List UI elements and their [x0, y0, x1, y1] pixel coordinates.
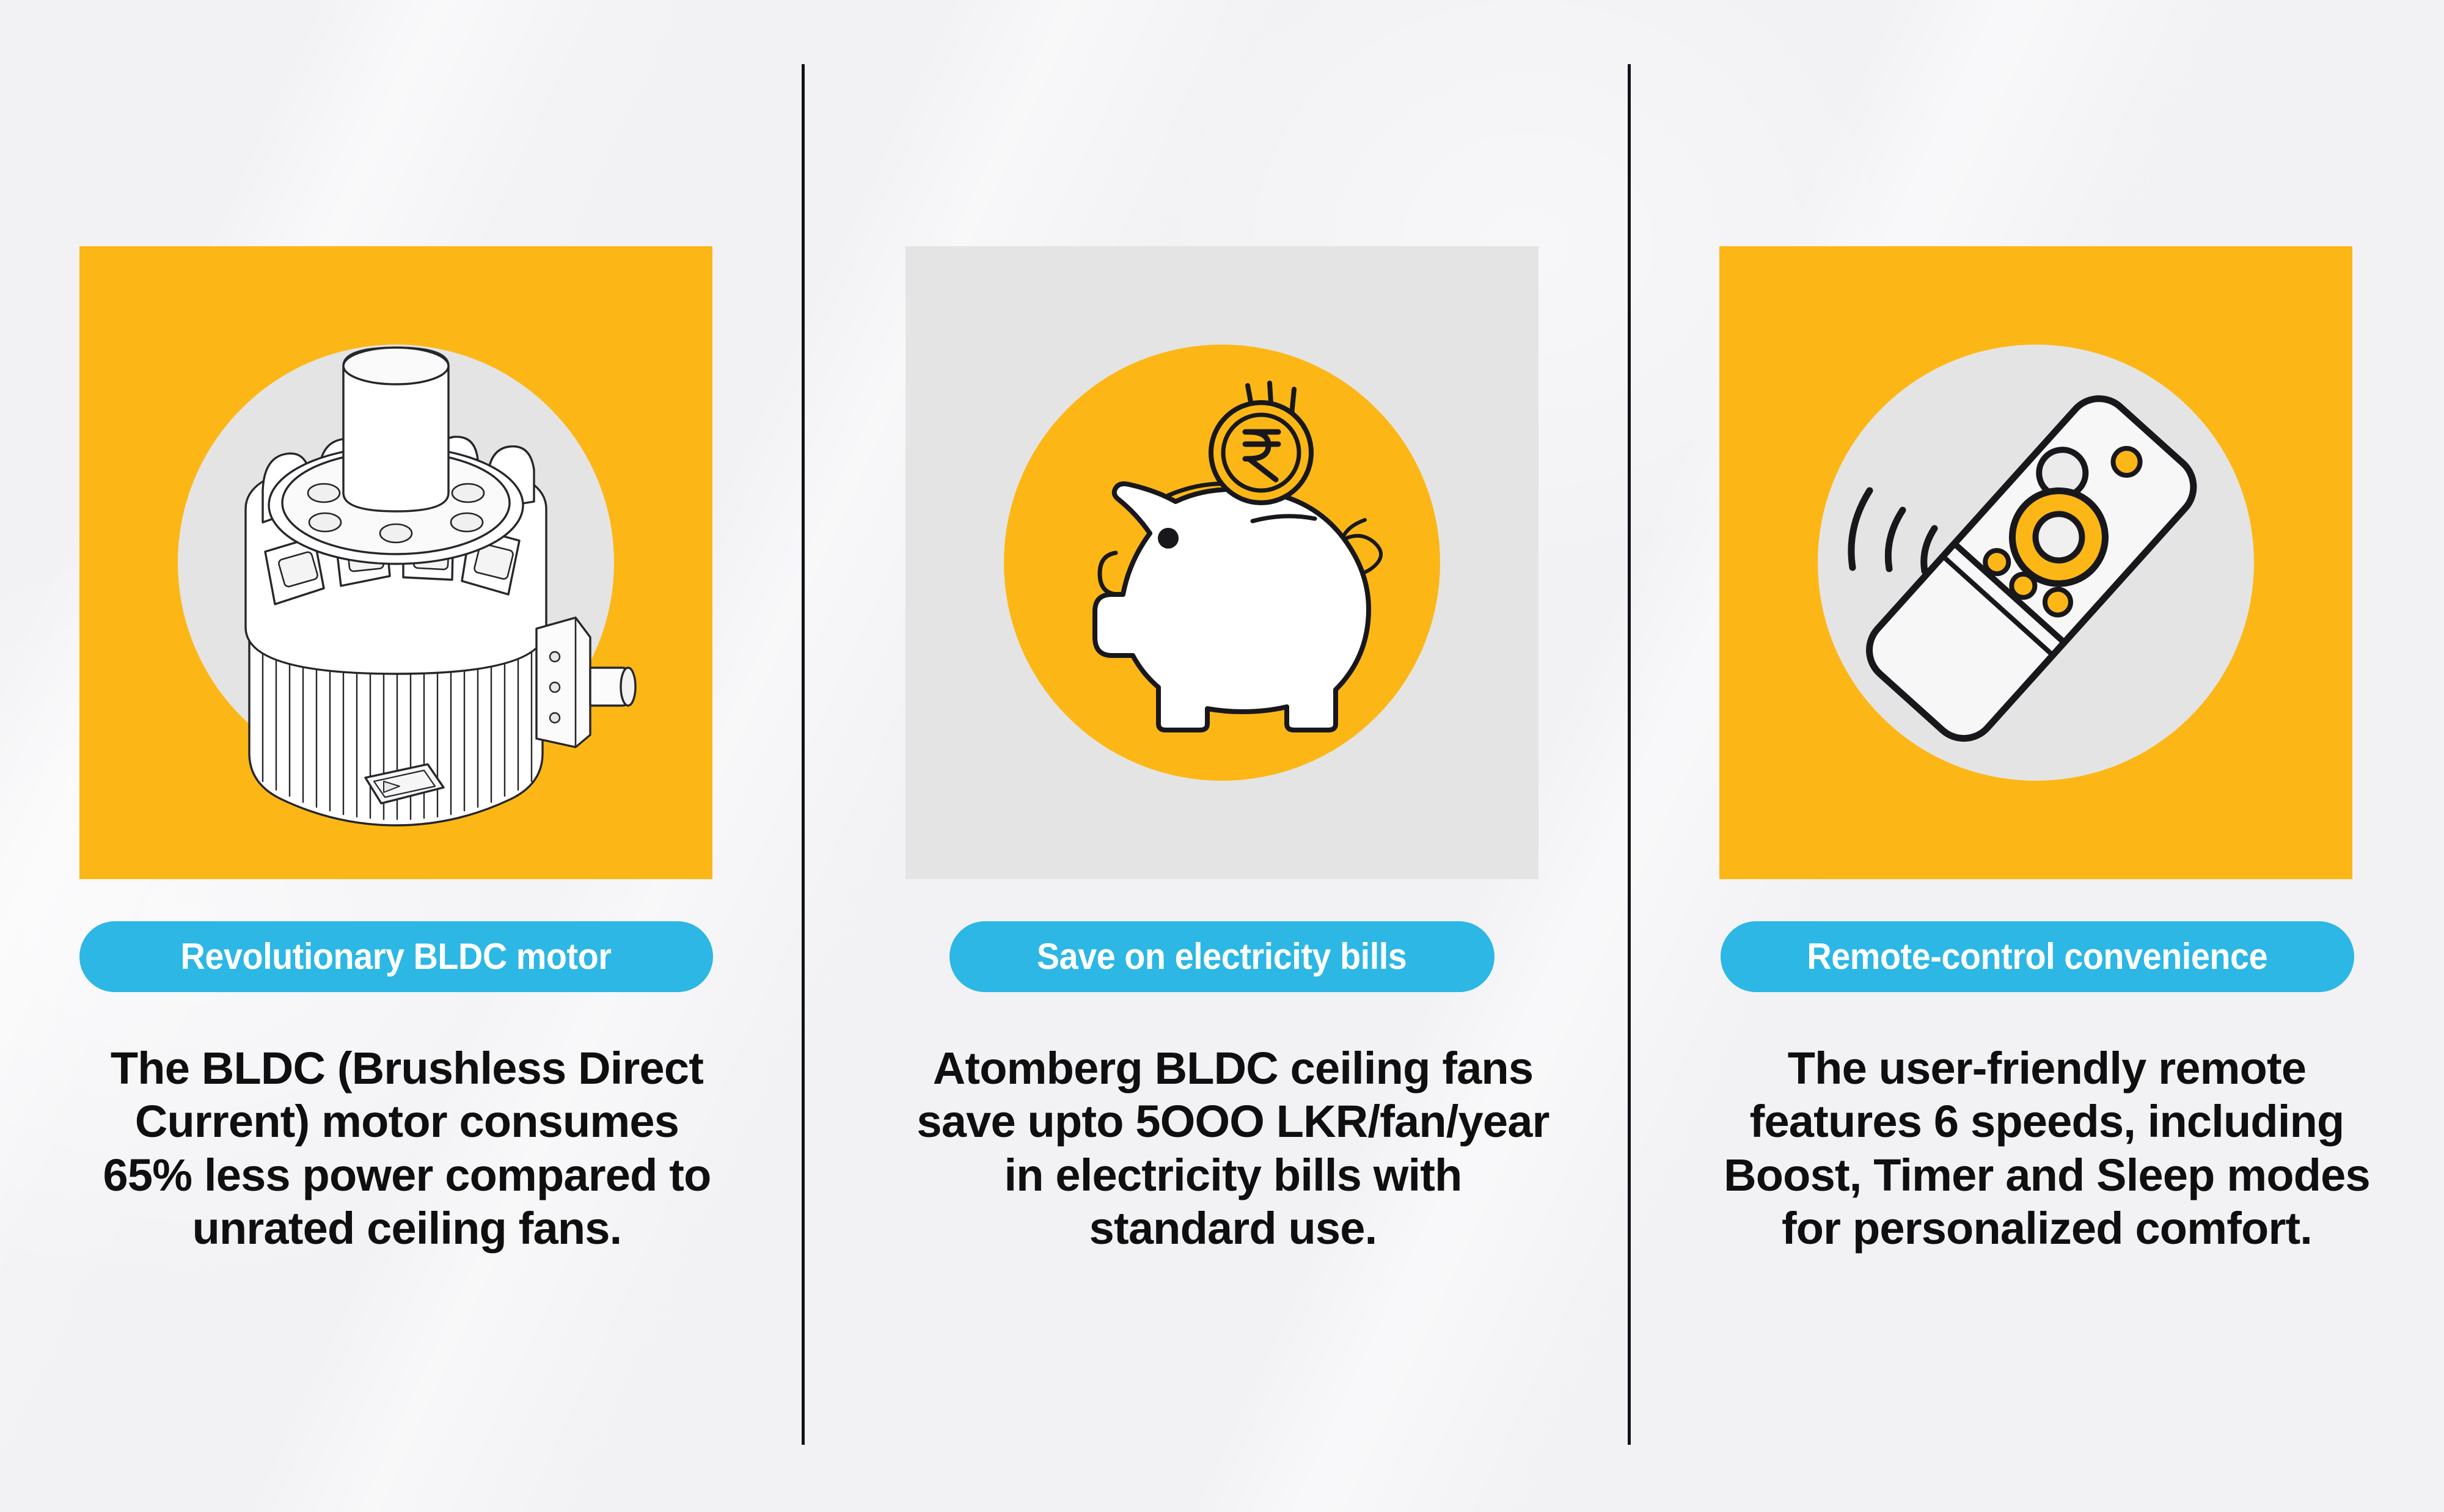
- feature-badge-electricity-savings[interactable]: Save on electricity bills: [949, 921, 1495, 992]
- piggy-bank-icon: [906, 246, 1538, 879]
- piggy-eye: [1158, 528, 1179, 549]
- feature-badge-label: Revolutionary BLDC motor: [181, 938, 612, 975]
- feature-badge-label: Remote-control convenience: [1807, 938, 2268, 975]
- illustration-tile-remote-control: [1719, 246, 2352, 879]
- feature-column-bldc-motor: Revolutionary BLDC motor The BLDC (Brush…: [0, 0, 814, 1512]
- rupee-coin-icon: [1211, 403, 1311, 503]
- illustration-tile-bldc-motor: [79, 246, 712, 879]
- feature-description-electricity-savings: Atomberg BLDC ceiling fans save upto 5OO…: [855, 1042, 1611, 1255]
- remote-control-icon: [1719, 246, 2352, 879]
- feature-badge-remote-control[interactable]: Remote-control convenience: [1721, 921, 2354, 992]
- feature-badge-label: Save on electricity bills: [1037, 938, 1407, 975]
- feature-column-remote-control: Remote-control convenience The user-frie…: [1640, 0, 2444, 1512]
- illustration-tile-piggy-bank: [906, 246, 1538, 879]
- feature-description-remote-control: The user-friendly remote features 6 spee…: [1669, 1042, 2424, 1255]
- bldc-motor-icon: [79, 246, 712, 879]
- feature-badge-bldc-motor[interactable]: Revolutionary BLDC motor: [79, 921, 713, 992]
- feature-column-electricity-savings: Save on electricity bills Atomberg BLDC …: [826, 0, 1640, 1512]
- infographic-canvas: Revolutionary BLDC motor The BLDC (Brush…: [0, 0, 2444, 1512]
- feature-description-bldc-motor: The BLDC (Brushless Direct Current) moto…: [29, 1042, 785, 1255]
